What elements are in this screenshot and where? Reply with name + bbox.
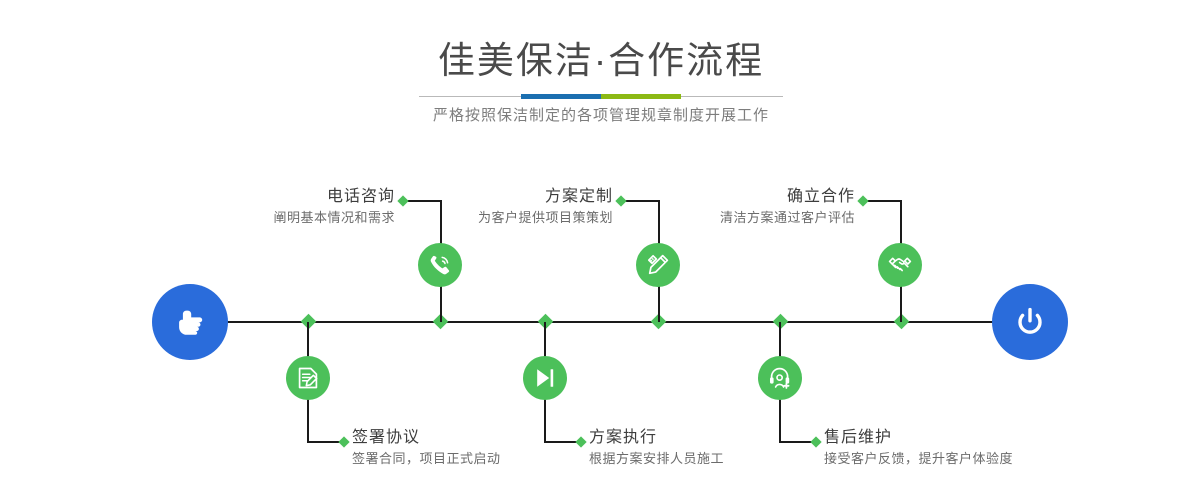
step-5-desc: 清洁方案通过客户评估 bbox=[615, 208, 855, 228]
step-3-icon-badge[interactable] bbox=[636, 243, 680, 287]
hand-pointing-icon bbox=[170, 302, 210, 342]
step-6-title: 售后维护 bbox=[824, 427, 1124, 449]
step-2-icon-badge[interactable] bbox=[286, 356, 330, 400]
step-6-desc: 接受客户反馈，提升客户体验度 bbox=[824, 449, 1124, 469]
step-6-label: 售后维护 接受客户反馈，提升客户体验度 bbox=[824, 427, 1124, 469]
step-1-desc: 阐明基本情况和需求 bbox=[155, 208, 395, 228]
step-2-label: 签署协议 签署合同，项目正式启动 bbox=[352, 427, 612, 469]
step-4-icon-badge[interactable] bbox=[523, 356, 567, 400]
phone-call-icon bbox=[427, 252, 453, 278]
divider-blue-segment bbox=[521, 94, 601, 99]
step-5-title: 确立合作 bbox=[615, 186, 855, 208]
handshake-icon bbox=[887, 252, 913, 278]
step-1-title: 电话咨询 bbox=[155, 186, 395, 208]
timeline-end-node bbox=[992, 284, 1068, 360]
step-4-desc: 根据方案安排人员施工 bbox=[589, 449, 849, 469]
step-2-desc: 签署合同，项目正式启动 bbox=[352, 449, 612, 469]
step-4-label: 方案执行 根据方案安排人员施工 bbox=[589, 427, 849, 469]
connector-dot-step-5 bbox=[857, 195, 868, 206]
step-5-icon-badge[interactable] bbox=[878, 243, 922, 287]
page-subtitle: 严格按照保洁制定的各项管理规章制度开展工作 bbox=[0, 104, 1202, 128]
step-1-label: 电话咨询 阐明基本情况和需求 bbox=[155, 186, 395, 228]
step-3-label: 方案定制 为客户提供项目策策划 bbox=[373, 186, 613, 228]
flowchart-canvas: 佳美保洁·合作流程 严格按照保洁制定的各项管理规章制度开展工作 bbox=[0, 0, 1202, 502]
connector-dot-step-2 bbox=[338, 436, 349, 447]
headset-support-icon bbox=[767, 365, 793, 391]
power-icon bbox=[1010, 302, 1050, 342]
page-title: 佳美保洁·合作流程 bbox=[0, 38, 1202, 84]
step-4-title: 方案执行 bbox=[589, 427, 849, 449]
connector-step-5-horizontal bbox=[864, 200, 901, 202]
play-execute-icon bbox=[532, 365, 558, 391]
step-1-icon-badge[interactable] bbox=[418, 243, 462, 287]
step-6-icon-badge[interactable] bbox=[758, 356, 802, 400]
divider-green-segment bbox=[601, 94, 681, 99]
step-3-desc: 为客户提供项目策策划 bbox=[373, 208, 613, 228]
step-5-label: 确立合作 清洁方案通过客户评估 bbox=[615, 186, 855, 228]
step-3-title: 方案定制 bbox=[373, 186, 613, 208]
pencil-ruler-icon bbox=[645, 252, 671, 278]
document-edit-icon bbox=[295, 365, 321, 391]
step-2-title: 签署协议 bbox=[352, 427, 612, 449]
timeline-start-node bbox=[152, 284, 228, 360]
title-divider bbox=[401, 94, 801, 100]
